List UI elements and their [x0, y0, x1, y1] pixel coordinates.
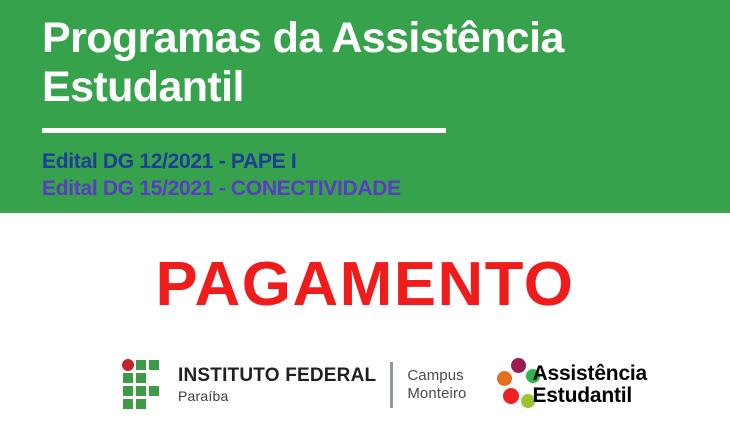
assistencia-word: Assistência: [533, 363, 648, 385]
campus-label: Campus Monteiro: [407, 367, 466, 404]
footer-vertical-divider: [390, 362, 393, 408]
instituto-federal-state: Paraíba: [178, 388, 376, 404]
edital-pape-i: Edital DG 12/2021 - PAPE I: [42, 149, 401, 176]
assistencia-estudantil-wordmark: Assistência Estudantil: [533, 363, 648, 408]
header-divider-rule: [42, 128, 446, 133]
instituto-federal-wordmark: INSTITUTO FEDERAL Paraíba: [178, 366, 376, 404]
dot-maroon: [511, 358, 526, 373]
campus-word: Campus: [407, 367, 466, 385]
footer-logo-bar: INSTITUTO FEDERAL Paraíba Campus Monteir…: [0, 350, 730, 430]
assistencia-estudantil-logo: Assistência Estudantil: [497, 356, 648, 414]
instituto-federal-logo-icon: [122, 359, 170, 411]
page-title: Programas da Assistência Estudantil: [42, 14, 682, 111]
dot-orange: [497, 371, 512, 386]
headline-pagamento: PAGAMENTO: [0, 249, 730, 320]
campus-name: Monteiro: [407, 385, 466, 403]
edital-conectividade: Edital DG 15/2021 - CONECTIVIDADE: [42, 176, 401, 203]
dot-red: [503, 388, 519, 404]
estudantil-word: Estudantil: [533, 385, 648, 407]
instituto-federal-name: INSTITUTO FEDERAL: [178, 366, 376, 386]
edital-list: Edital DG 12/2021 - PAPE I Edital DG 15/…: [42, 149, 401, 203]
main-content-area: PAGAMENTO: [0, 213, 730, 350]
poster-canvas: Programas da Assistência Estudantil Edit…: [0, 0, 730, 430]
header-green-band: Programas da Assistência Estudantil Edit…: [0, 0, 730, 213]
footer-logos-row: INSTITUTO FEDERAL Paraíba Campus Monteir…: [122, 356, 647, 414]
